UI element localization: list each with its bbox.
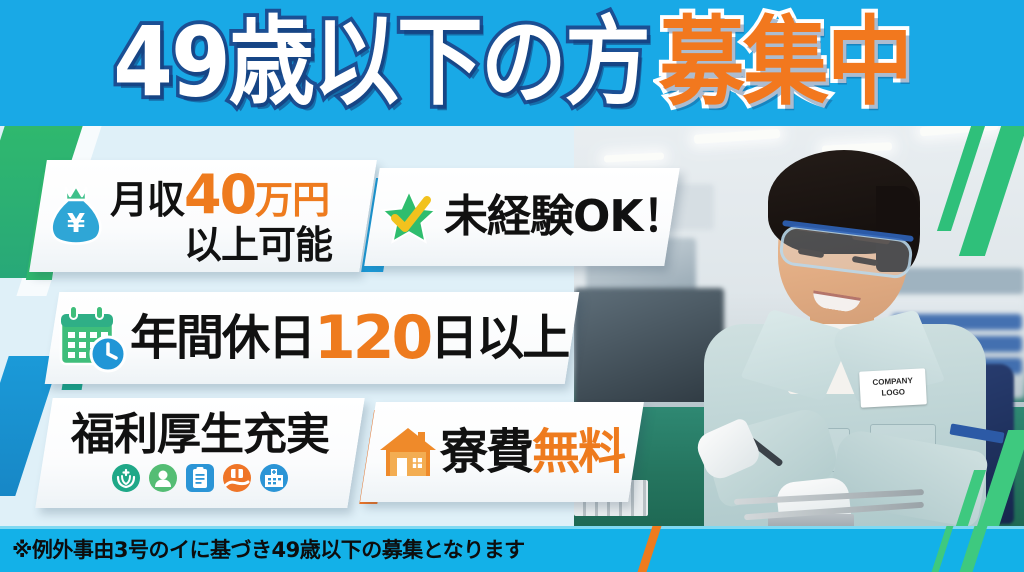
- feature-card-dormitory: 寮費 無料: [360, 402, 644, 502]
- svg-text:¥: ¥: [67, 209, 85, 239]
- money-bag-icon: ¥: [44, 182, 108, 250]
- feature-card-salary: ¥ 月収 40 万円 以上可能: [29, 160, 377, 272]
- footer-stripe-green: [960, 526, 988, 572]
- headline-main: 49歳以下の方: [113, 15, 649, 111]
- person-care-icon: [148, 463, 178, 493]
- hand-money-icon: [222, 463, 252, 493]
- footer-note: ※例外事由3号のイに基づき49歳以下の募集となります: [12, 534, 525, 564]
- holidays-suffix: 日以上: [430, 314, 568, 362]
- feature-card-holidays: 年間休日 120 日以上: [45, 292, 580, 384]
- banner-header: 49歳以下の方 募集中: [0, 0, 1024, 126]
- dorm-prefix: 寮費: [440, 428, 532, 476]
- badge-line-2: LOGO: [881, 387, 905, 399]
- banner-footer: ※例外事由3号のイに基づき49歳以下の募集となります: [0, 526, 1024, 572]
- salary-unit: 万円: [255, 181, 329, 219]
- worker-figure: COMPANY LOGO: [692, 128, 992, 528]
- recruitment-banner: COMPANY LOGO: [0, 0, 1024, 572]
- company-logo-badge: COMPANY LOGO: [859, 368, 927, 407]
- clipboard-icon: [185, 463, 215, 493]
- dorm-free-label: 無料: [532, 428, 624, 476]
- salary-amount: 40: [184, 168, 255, 222]
- salary-subline: 以上可能: [184, 226, 332, 264]
- welfare-icon-row: [111, 463, 289, 493]
- holidays-prefix: 年間休日: [130, 314, 314, 362]
- headline-accent: 募集中: [659, 15, 911, 111]
- benefits-label: 福利厚生充実: [71, 413, 329, 457]
- house-icon: [376, 422, 440, 482]
- feature-card-benefits: 福利厚生充実: [35, 398, 364, 508]
- feature-card-inexperienced: 未経験OK！: [364, 168, 680, 266]
- salary-prefix: 月収: [110, 181, 184, 219]
- footer-stripe-green: [932, 526, 954, 572]
- inexperienced-label: 未経験OK！: [444, 195, 686, 239]
- calendar-clock-icon: [56, 302, 130, 374]
- holidays-count: 120: [314, 308, 430, 368]
- star-check-icon: [380, 188, 438, 246]
- footer-top-divider: [0, 526, 1024, 529]
- hospital-icon: [259, 463, 289, 493]
- footer-stripe-orange: [638, 526, 662, 572]
- hands-heart-icon: [111, 463, 141, 493]
